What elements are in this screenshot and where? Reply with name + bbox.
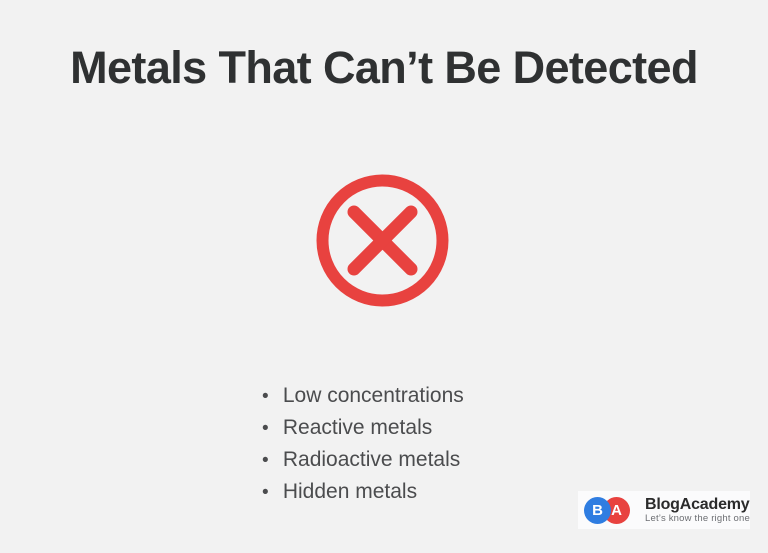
logo-circle-b: B [584, 497, 611, 524]
bullet-marker: • [262, 445, 277, 476]
logo-mark: B A [584, 496, 638, 524]
circle-x-icon-svg [316, 174, 449, 307]
list-item: • Hidden metals [262, 476, 464, 508]
list-item-label: Reactive metals [283, 412, 432, 443]
logo-tagline: Let’s know the right one [645, 513, 750, 525]
list-item-label: Hidden metals [283, 476, 417, 507]
list-item: • Low concentrations [262, 380, 464, 412]
bullet-marker: • [262, 413, 277, 444]
bullet-marker: • [262, 477, 277, 508]
bullet-marker: • [262, 381, 277, 412]
logo-name: BlogAcademy [645, 496, 750, 513]
bullet-list: • Low concentrations • Reactive metals •… [262, 380, 464, 508]
list-item: • Reactive metals [262, 412, 464, 444]
page-title: Metals That Can’t Be Detected [0, 42, 768, 94]
logo-text: BlogAcademy Let’s know the right one [645, 496, 750, 525]
brand-logo: B A BlogAcademy Let’s know the right one [578, 491, 750, 529]
list-item-label: Radioactive metals [283, 444, 460, 475]
circle-x-icon [316, 174, 449, 307]
list-item: • Radioactive metals [262, 444, 464, 476]
infographic-slide: Metals That Can’t Be Detected • Low conc… [0, 0, 768, 553]
list-item-label: Low concentrations [283, 380, 464, 411]
